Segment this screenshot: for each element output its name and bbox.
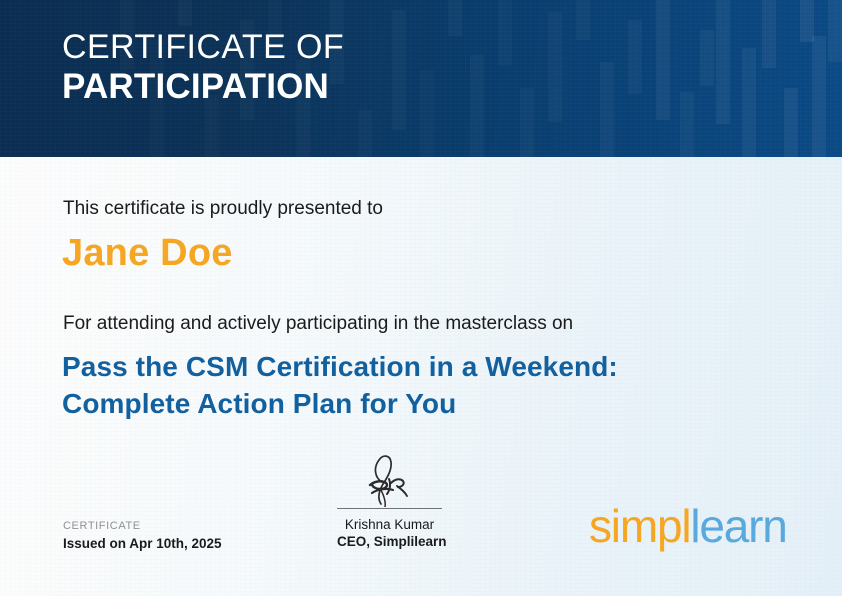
- certificate-header-title: CERTIFICATE OF PARTICIPATION: [62, 28, 344, 108]
- attending-label: For attending and actively participating…: [63, 313, 573, 335]
- certificate-issue-date: Issued on Apr 10th, 2025: [63, 536, 222, 551]
- signature-block: Krishna Kumar CEO, Simplilearn: [337, 452, 442, 549]
- certificate-label: CERTIFICATE: [63, 520, 222, 532]
- signatory-role: CEO, Simplilearn: [337, 534, 442, 549]
- recipient-name: Jane Doe: [62, 232, 233, 275]
- course-title: Pass the CSM Certification in a Weekend:…: [62, 348, 702, 422]
- signature-divider: [337, 508, 442, 509]
- handwritten-signature-icon: [337, 452, 442, 507]
- signatory-name: Krishna Kumar: [337, 517, 442, 532]
- certificate-header: CERTIFICATE OF PARTICIPATION: [0, 0, 842, 157]
- certificate-issue-block: CERTIFICATE Issued on Apr 10th, 2025: [63, 520, 222, 551]
- logo-text-blue: learn: [690, 500, 786, 552]
- simplilearn-logo: simpllearn: [589, 503, 787, 549]
- certificate-document: CERTIFICATE OF PARTICIPATION This certif…: [0, 0, 842, 596]
- certificate-type-name: PARTICIPATION: [62, 67, 344, 108]
- certificate-type-prefix: CERTIFICATE OF: [62, 28, 344, 67]
- presented-to-label: This certificate is proudly presented to: [63, 198, 383, 220]
- logo-text-orange: simpl: [589, 500, 690, 552]
